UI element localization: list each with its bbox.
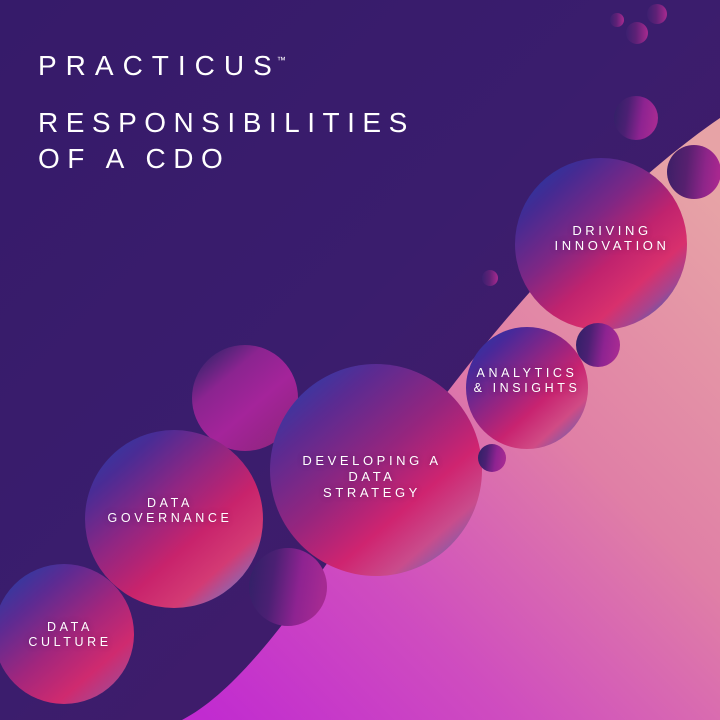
deco-circle <box>626 22 648 44</box>
bubble-driving-innovation[interactable] <box>515 158 687 330</box>
bubble-data-culture[interactable] <box>0 564 134 704</box>
deco-circle <box>478 444 506 472</box>
poster-artwork <box>0 0 720 720</box>
deco-circle <box>249 548 327 626</box>
deco-circle <box>647 4 667 24</box>
deco-circle <box>610 13 624 27</box>
poster-canvas: PRACTICUS™ RESPONSIBILITIES OF A CDO DRI… <box>0 0 720 720</box>
deco-circle <box>614 96 658 140</box>
deco-circle <box>667 145 720 199</box>
bubble-developing-strategy[interactable] <box>270 364 482 576</box>
bubble-analytics-insights[interactable] <box>466 327 588 449</box>
bubble-data-governance[interactable] <box>85 430 263 608</box>
deco-circle <box>576 323 620 367</box>
deco-circle <box>482 270 498 286</box>
